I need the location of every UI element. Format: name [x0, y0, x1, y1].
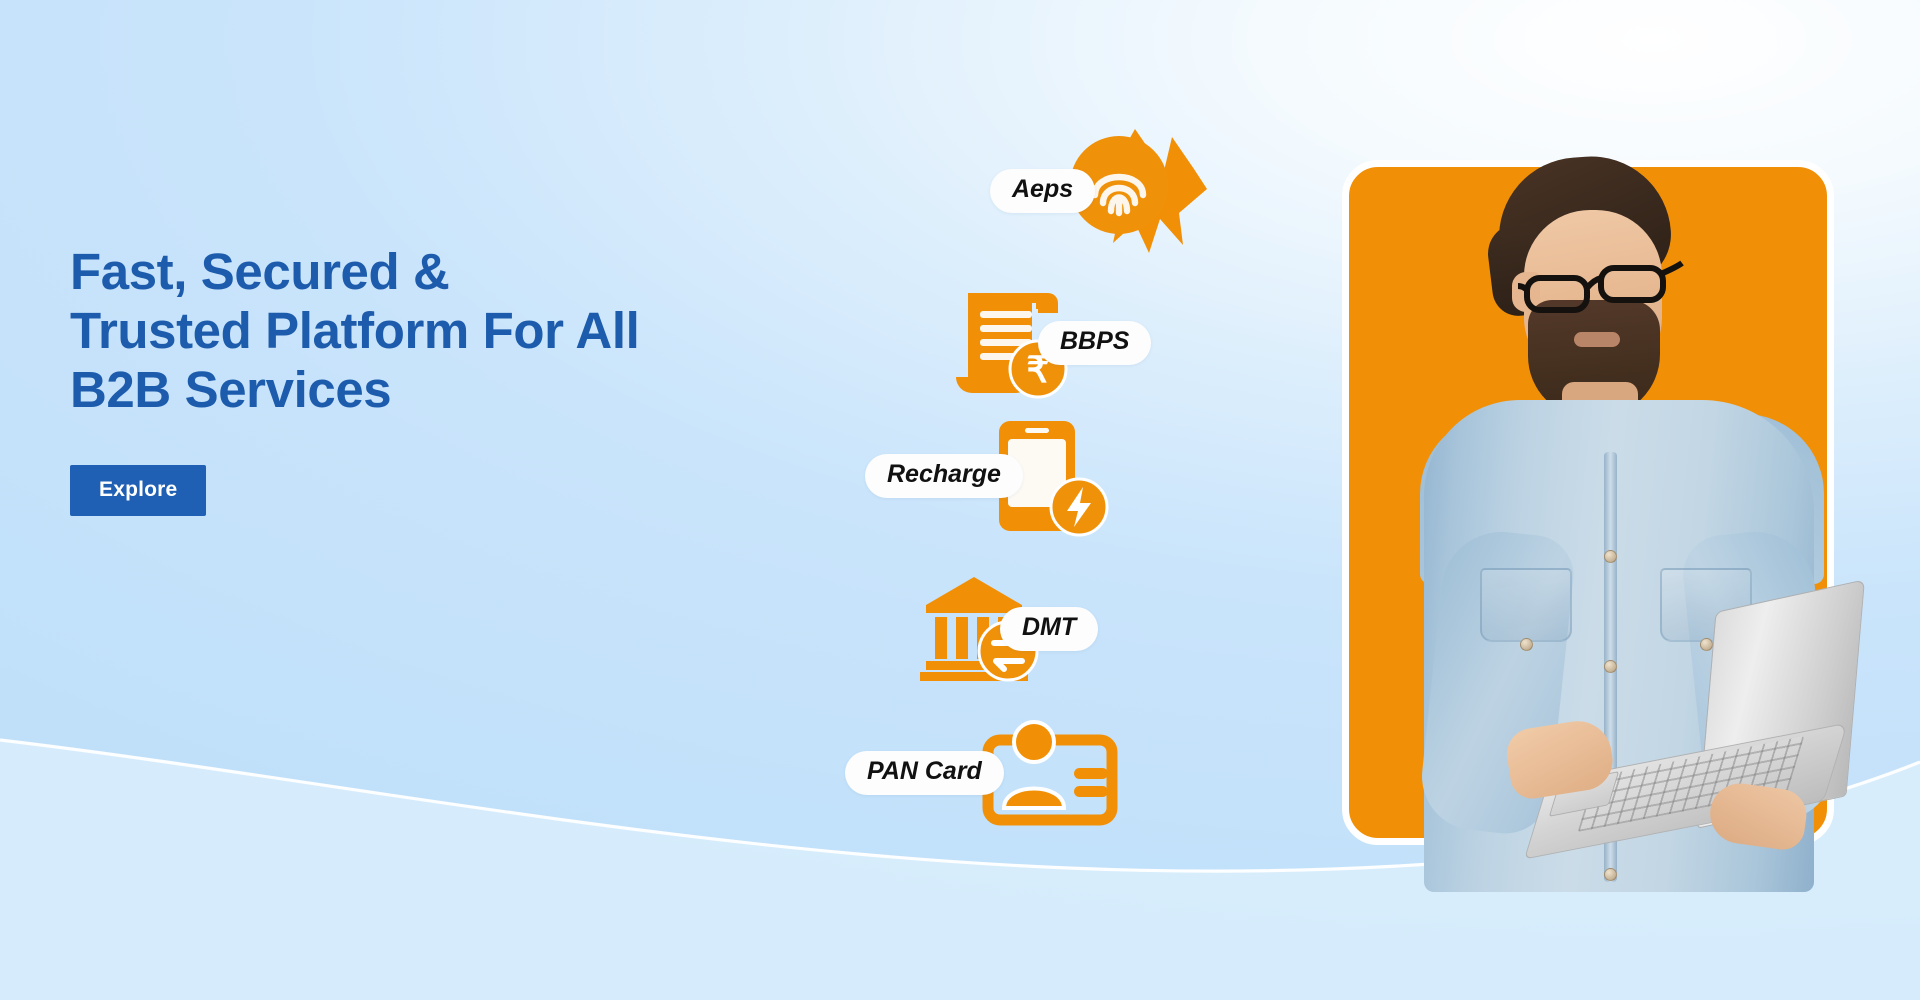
- hero-visual: [1330, 152, 1830, 842]
- service-badge-label-aeps: Aeps: [990, 169, 1095, 213]
- service-badge-pancard[interactable]: PAN Card: [845, 720, 1118, 826]
- service-badge-label-pancard: PAN Card: [845, 751, 1004, 795]
- service-badge-bbps[interactable]: ₹ BBPS: [950, 281, 1151, 405]
- person-mouth: [1574, 332, 1620, 347]
- shirt-button: [1604, 550, 1617, 563]
- man-with-laptop-photo: [1312, 132, 1920, 892]
- service-badge-recharge[interactable]: Recharge: [865, 415, 1109, 537]
- explore-button[interactable]: Explore: [70, 465, 206, 516]
- service-badge-dmt[interactable]: DMT: [918, 571, 1098, 687]
- service-badge-label-dmt: DMT: [1000, 607, 1098, 651]
- service-badge-list: Aeps: [960, 85, 1310, 895]
- page-title: Fast, Secured & Trusted Platform For All…: [70, 242, 830, 419]
- service-badge-aeps[interactable]: Aeps: [990, 123, 1211, 259]
- eyeglasses-icon: [1518, 260, 1686, 316]
- shirt-button: [1604, 868, 1617, 881]
- hero-copy-block: Fast, Secured & Trusted Platform For All…: [70, 242, 830, 516]
- service-badge-label-bbps: BBPS: [1038, 321, 1151, 365]
- shirt-pocket-button: [1520, 638, 1533, 651]
- service-badge-label-recharge: Recharge: [865, 454, 1023, 498]
